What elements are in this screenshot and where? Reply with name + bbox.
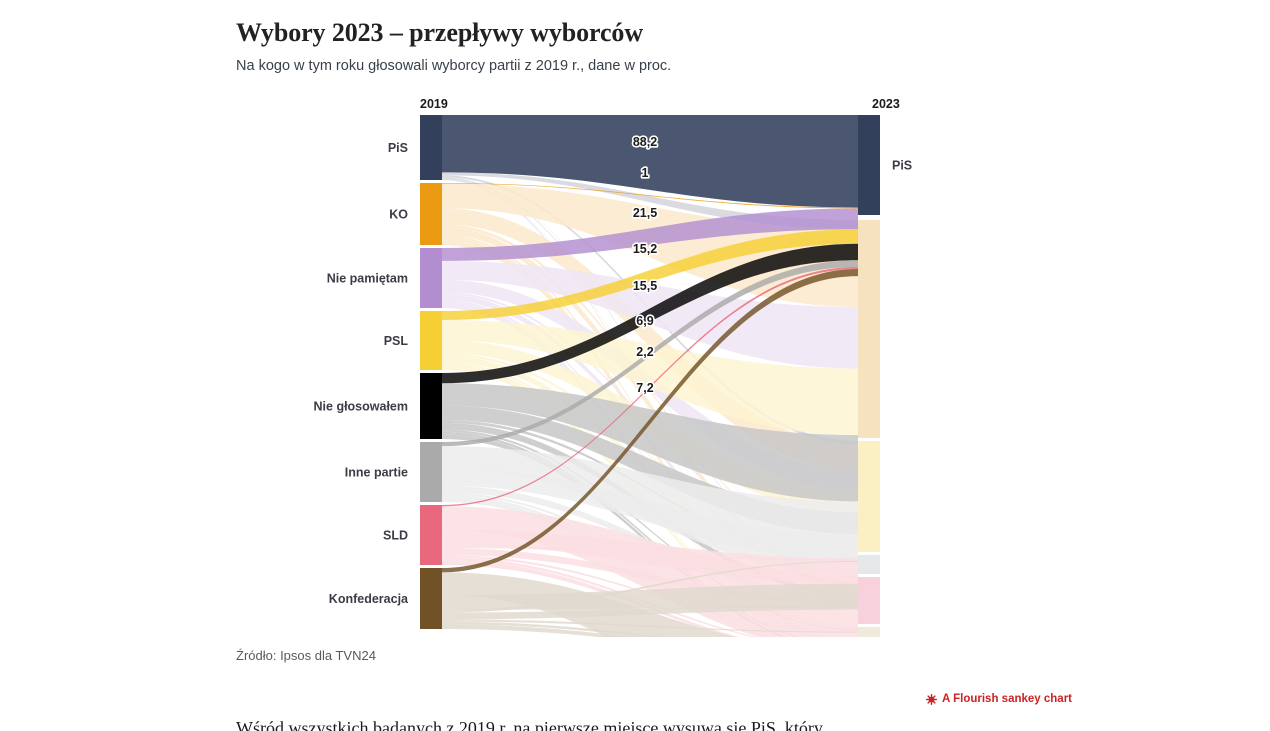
- right-node-bar[interactable]: [858, 555, 880, 574]
- left-node-label: SLD: [383, 529, 408, 543]
- flourish-asterisk-icon: [926, 694, 937, 705]
- flourish-credit-label: A Flourish sankey chart: [942, 693, 1072, 705]
- left-node-label: KO: [389, 208, 408, 222]
- flow-value-label: 15,2: [633, 242, 657, 256]
- left-node-label: Inne partie: [345, 466, 408, 480]
- right-node-bar[interactable]: [858, 627, 880, 637]
- right-node-bars[interactable]: [858, 115, 880, 637]
- axis-year-2023: 2023: [872, 97, 900, 111]
- left-node-labels: PiSKONie pamiętamPSLNie głosowałemInne p…: [314, 141, 410, 606]
- left-node-bar[interactable]: [420, 248, 442, 308]
- flow-value-label: 15,5: [633, 279, 657, 293]
- left-node-bar[interactable]: [420, 568, 442, 629]
- flow-value-label: 88,2: [633, 135, 657, 149]
- sankey-svg[interactable]: 2019 2023 PiSKONie pamiętamPSLNie głosow…: [236, 92, 1076, 637]
- left-node-label: Nie pamiętam: [327, 272, 408, 286]
- flow-value-label: 21,5: [633, 206, 657, 220]
- right-node-bar[interactable]: [858, 115, 880, 215]
- page-title: Wybory 2023 – przepływy wyborców: [236, 18, 1076, 48]
- left-node-bar[interactable]: [420, 311, 442, 370]
- right-node-bar[interactable]: [858, 220, 880, 438]
- flow-value-label: 1: [642, 166, 649, 180]
- left-node-bar[interactable]: [420, 505, 442, 565]
- source-note: Źródło: Ipsos dla TVN24: [236, 648, 376, 663]
- chart-header: Wybory 2023 – przepływy wyborców Na kogo…: [236, 18, 1076, 75]
- page-root: Wybory 2023 – przepływy wyborców Na kogo…: [0, 0, 1270, 731]
- left-node-label: PSL: [384, 334, 409, 348]
- left-node-bar[interactable]: [420, 373, 442, 439]
- article-body-text: Wśród wszystkich badanych z 2019 r. na p…: [236, 716, 1056, 731]
- left-node-label: PiS: [388, 141, 408, 155]
- left-node-bars[interactable]: [420, 115, 442, 629]
- flow-value-label: 7,2: [636, 381, 653, 395]
- axis-year-2019: 2019: [420, 97, 448, 111]
- flow-value-label: 2,2: [636, 345, 653, 359]
- right-node-labels: PiS: [892, 159, 912, 173]
- right-node-label: PiS: [892, 159, 912, 173]
- chart-subtitle: Na kogo w tym roku głosowali wyborcy par…: [236, 57, 1076, 75]
- flourish-credit-link[interactable]: A Flourish sankey chart: [926, 693, 1072, 705]
- left-node-label: Konfederacja: [329, 592, 409, 606]
- left-node-bar[interactable]: [420, 442, 442, 502]
- flow-ribbons[interactable]: [442, 115, 858, 637]
- flow-value-label: 6,9: [636, 314, 653, 328]
- sankey-chart[interactable]: 2019 2023 PiSKONie pamiętamPSLNie głosow…: [236, 92, 1076, 637]
- right-node-bar[interactable]: [858, 577, 880, 624]
- left-node-bar[interactable]: [420, 115, 442, 180]
- right-node-bar[interactable]: [858, 441, 880, 552]
- left-node-bar[interactable]: [420, 183, 442, 245]
- left-node-label: Nie głosowałem: [314, 400, 408, 414]
